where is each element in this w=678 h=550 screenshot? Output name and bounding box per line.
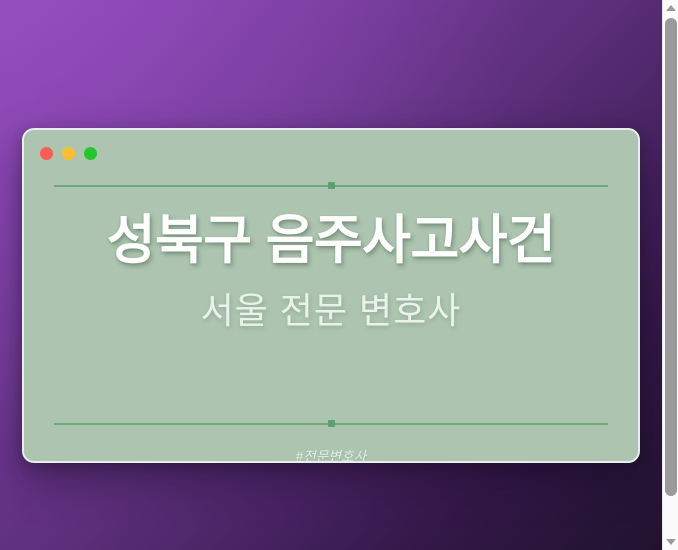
card-hashtag: #전문변호사 (54, 445, 608, 463)
card-content: 성북구 음주사고사건 서울 전문 변호사 #전문변호사 (24, 174, 638, 463)
card-subheadline: 서울 전문 변호사 (54, 291, 608, 331)
divider-node-icon (328, 182, 335, 189)
scrollbar-thumb[interactable] (665, 18, 677, 496)
divider-node-icon (328, 420, 335, 427)
divider-top (54, 184, 608, 187)
maximize-window-dot[interactable] (84, 147, 97, 160)
scroll-down-button[interactable] (663, 534, 678, 550)
close-window-dot[interactable] (40, 147, 53, 160)
chevron-up-icon (666, 5, 676, 11)
vertical-scrollbar[interactable] (662, 0, 678, 550)
divider-bottom (54, 422, 608, 425)
card-headline: 성북구 음주사고사건 (54, 213, 608, 269)
scroll-up-button[interactable] (663, 0, 678, 16)
preview-card: 성북구 음주사고사건 서울 전문 변호사 #전문변호사 (22, 128, 640, 463)
chevron-down-icon (666, 539, 676, 545)
screenshot-viewport: 성북구 음주사고사건 서울 전문 변호사 #전문변호사 (0, 0, 678, 550)
window-traffic-lights (40, 147, 97, 160)
minimize-window-dot[interactable] (62, 147, 75, 160)
